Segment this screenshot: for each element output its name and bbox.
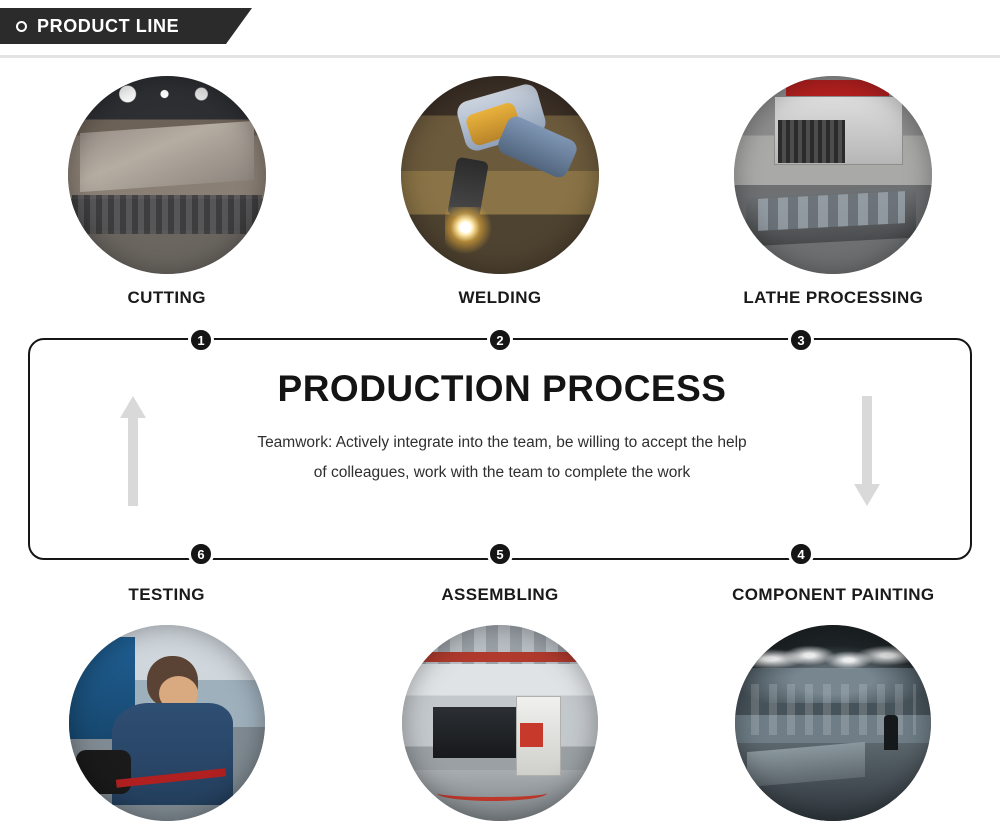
step-testing — [0, 625, 333, 821]
assembling-line-photo — [402, 625, 598, 821]
caption-assembling: ASSEMBLING — [441, 585, 558, 605]
page-header: PRODUCT LINE — [0, 0, 1000, 60]
step-badge-5: 5 — [487, 541, 513, 567]
caption-cell-component-painting: COMPONENT PAINTING — [667, 585, 1000, 605]
header-banner: PRODUCT LINE — [0, 8, 226, 44]
step-badge-1: 1 — [188, 327, 214, 353]
cutting-machine-photo — [68, 76, 266, 274]
caption-cutting: CUTTING — [127, 288, 205, 308]
top-photo-row: CUTTING WELDING LATHE PROCESSING — [0, 76, 1000, 308]
arrow-up-icon — [120, 396, 146, 506]
arrow-down-icon — [854, 396, 880, 506]
header-banner-tail — [226, 8, 252, 44]
process-description: Teamwork: Actively integrate into the te… — [252, 428, 752, 488]
bottom-caption-row: TESTING ASSEMBLING COMPONENT PAINTING — [0, 585, 1000, 605]
page-title: PRODUCT LINE — [37, 16, 179, 37]
step-badge-6: 6 — [188, 541, 214, 567]
caption-lathe-processing: LATHE PROCESSING — [743, 288, 923, 308]
welding-robot-photo — [401, 76, 599, 274]
process-title: PRODUCTION PROCESS — [30, 368, 974, 410]
caption-component-painting: COMPONENT PAINTING — [732, 585, 934, 605]
circle-marker-icon — [16, 21, 27, 32]
header-divider — [0, 55, 1000, 58]
step-badge-3: 3 — [788, 327, 814, 353]
caption-cell-testing: TESTING — [0, 585, 333, 605]
step-cutting: CUTTING — [0, 76, 333, 308]
step-lathe: LATHE PROCESSING — [667, 76, 1000, 308]
caption-testing: TESTING — [128, 585, 204, 605]
bottom-photo-row — [0, 625, 1000, 821]
painting-booth-photo — [735, 625, 931, 821]
caption-cell-assembling: ASSEMBLING — [333, 585, 666, 605]
step-badge-2: 2 — [487, 327, 513, 353]
lathe-machine-photo — [734, 76, 932, 274]
production-process-box: PRODUCTION PROCESS Teamwork: Actively in… — [28, 338, 972, 560]
step-component-painting — [667, 625, 1000, 821]
step-badge-4: 4 — [788, 541, 814, 567]
step-welding: WELDING — [333, 76, 666, 308]
caption-welding: WELDING — [458, 288, 541, 308]
step-assembling — [333, 625, 666, 821]
testing-worker-photo — [69, 625, 265, 821]
